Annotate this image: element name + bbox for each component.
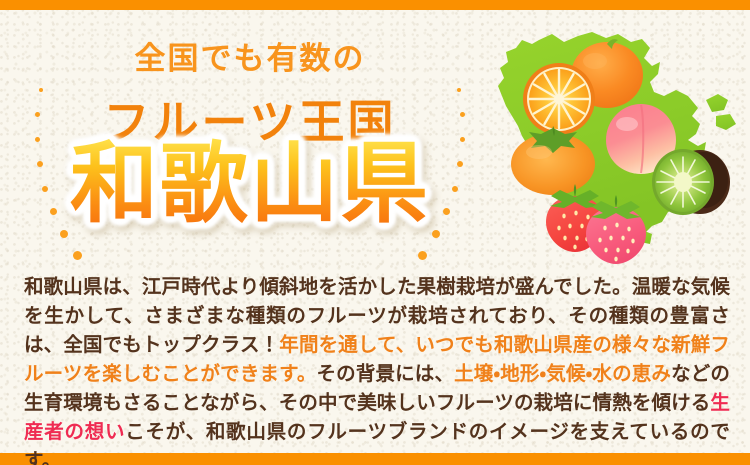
body-segment-normal: その背景には、 (317, 362, 455, 385)
strawberry-pink-icon (582, 190, 650, 266)
arc-dot (418, 251, 427, 260)
kiwi-icon (650, 146, 732, 218)
body-segment-orange: 土壌・地形・気候・水の恵み (454, 362, 671, 385)
arc-dot (73, 251, 82, 260)
wakayama-map-illustration (492, 12, 750, 250)
body-segment-normal: こそが、和歌山県のフルーツブランドのイメージを支えているのです。 (24, 420, 730, 465)
headline-block: 全国でも有数の フルーツ王国 和歌山県 (0, 10, 500, 245)
arc-dot (60, 230, 68, 238)
promo-banner: 全国でも有数の フルーツ王国 和歌山県 (0, 0, 750, 465)
top-accent-bar (0, 0, 750, 10)
page-title: 和歌山県 (0, 138, 500, 230)
arc-dot (432, 230, 440, 238)
kicker-text: 全国でも有数の (0, 33, 500, 78)
body-paragraph: 和歌山県は、江戸時代より傾斜地を活かした果樹栽培が盛んでした。温暖な気候を生かし… (24, 272, 730, 465)
